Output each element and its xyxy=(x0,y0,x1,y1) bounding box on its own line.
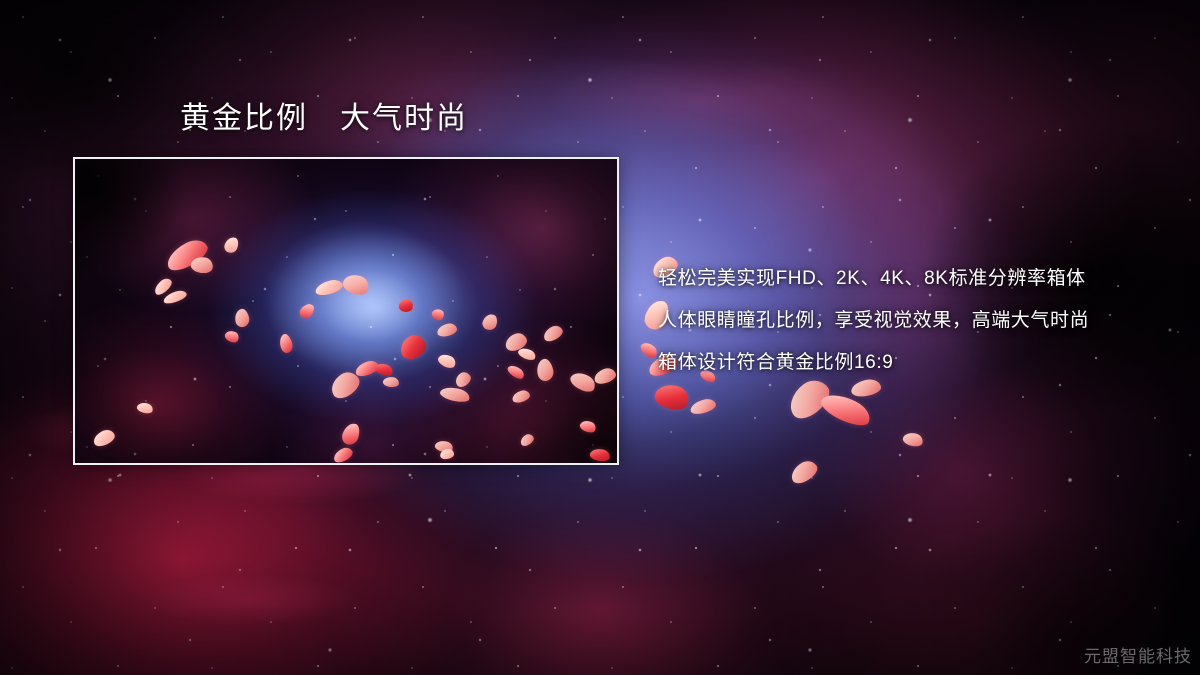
petal xyxy=(652,380,692,413)
body-copy: 轻松完美实现FHD、2K、4K、8K标准分辨率箱体 人体眼睛瞳孔比例，享受视觉效… xyxy=(658,258,1089,384)
petal xyxy=(818,388,875,431)
petal xyxy=(689,397,717,416)
body-line-1: 轻松完美实现FHD、2K、4K、8K标准分辨率箱体 xyxy=(658,258,1089,300)
watermark: 元盟智能科技 xyxy=(1084,642,1192,667)
page-title: 黄金比例 大气时尚 xyxy=(180,101,468,137)
body-line-3: 箱体设计符合黄金比例16:9 xyxy=(658,342,1089,384)
petal xyxy=(787,457,820,487)
inset-dark-overlay xyxy=(75,159,617,463)
petal xyxy=(638,339,659,360)
body-line-2: 人体眼睛瞳孔比例，享受视觉效果，高端大气时尚 xyxy=(658,300,1089,342)
presentation-slide: 黄金比例 大气时尚 轻松完美实现FHD、2K、4K、8K标准分辨率箱体 人体眼睛… xyxy=(0,0,1200,675)
inset-image-frame[interactable] xyxy=(73,157,619,465)
petal xyxy=(902,430,925,448)
